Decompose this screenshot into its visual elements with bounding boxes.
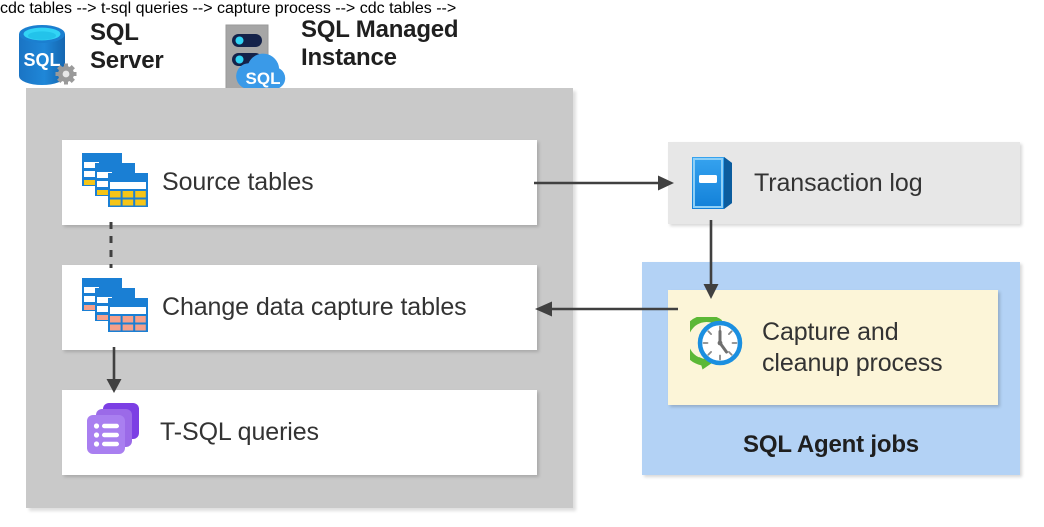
legend-item-sql-managed-instance: SQL SQL Managed Instance xyxy=(219,15,458,98)
transaction-log-card[interactable]: Transaction log xyxy=(668,142,1020,224)
capture-and-cleanup-process-label: Capture and cleanup process xyxy=(762,317,943,378)
change-data-capture-tables-icon xyxy=(80,276,148,339)
t-sql-queries-icon xyxy=(84,401,144,464)
source-tables-label: Source tables xyxy=(162,168,314,197)
sql-agent-jobs-panel: Capture and cleanup process SQL Agent jo… xyxy=(642,262,1020,475)
sql-managed-instance-icon: SQL xyxy=(219,15,291,98)
transaction-log-book-icon xyxy=(686,153,738,214)
source-tables-icon xyxy=(80,151,148,214)
source-tables-card[interactable]: Source tables xyxy=(62,140,537,225)
legend-label-sql-server: SQL Server xyxy=(90,18,164,76)
change-data-capture-tables-card[interactable]: Change data capture tables xyxy=(62,265,537,350)
clock-refresh-icon xyxy=(690,317,746,378)
svg-text:SQL: SQL xyxy=(23,50,60,70)
legend-item-sql-server: SQL SQL Server xyxy=(14,18,164,97)
legend-label-sql-managed-instance: SQL Managed Instance xyxy=(301,15,458,73)
diagram-canvas: SQL SQL Server xyxy=(0,0,1044,527)
connector-source-tables-to-transaction-log xyxy=(534,166,678,200)
connector-transaction-log-to-capture-process xyxy=(700,220,722,302)
connector-cdc-tables-to-tsql-queries xyxy=(104,347,124,395)
transaction-log-label: Transaction log xyxy=(754,169,923,198)
t-sql-queries-label: T-SQL queries xyxy=(160,418,319,447)
connector-source-tables-to-cdc-tables xyxy=(104,222,118,270)
change-data-capture-tables-label: Change data capture tables xyxy=(162,293,467,322)
sql-agent-jobs-title: SQL Agent jobs xyxy=(642,431,1020,459)
capture-and-cleanup-process-card[interactable]: Capture and cleanup process xyxy=(668,290,998,405)
sql-server-icon: SQL xyxy=(14,18,80,97)
connector-capture-process-to-cdc-tables xyxy=(532,292,678,326)
t-sql-queries-card[interactable]: T-SQL queries xyxy=(62,390,537,475)
svg-text:SQL: SQL xyxy=(246,69,281,88)
